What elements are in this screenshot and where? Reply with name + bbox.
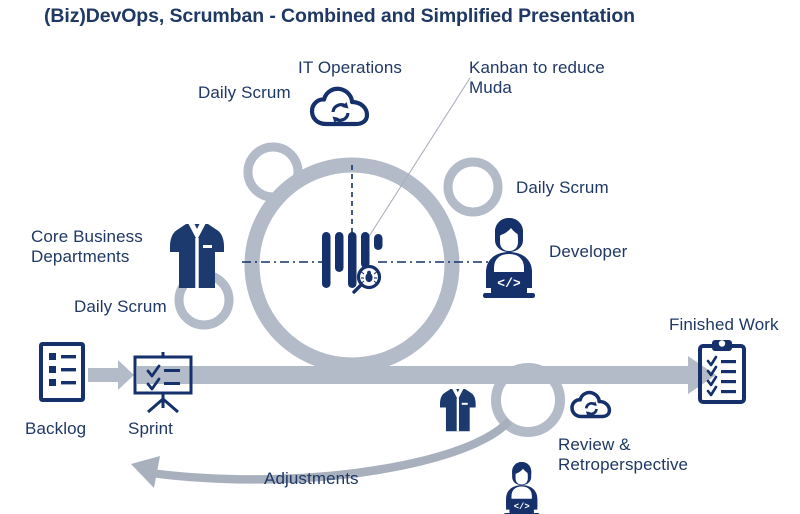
cloud-sync-icon-top bbox=[312, 89, 367, 124]
label-developer: Developer bbox=[549, 242, 627, 262]
label-daily-scrum-left: Daily Scrum bbox=[74, 297, 167, 317]
label-kanban-to-reduce-muda: Kanban to reduce Muda bbox=[469, 58, 605, 98]
label-backlog: Backlog bbox=[25, 419, 86, 439]
label-finished-work: Finished Work bbox=[669, 315, 779, 335]
label-core-business-departments: Core Business Departments bbox=[31, 227, 143, 267]
svg-text:</>: </> bbox=[514, 502, 530, 512]
label-adjustments: Adjustments bbox=[264, 469, 359, 489]
business-shirt-icon-bottom bbox=[440, 387, 476, 431]
kanban-leader-line bbox=[368, 78, 470, 238]
diagram-canvas: (Biz)DevOps, Scrumban - Combined and Sim… bbox=[0, 0, 800, 514]
label-it-operations: IT Operations bbox=[298, 58, 402, 78]
developer-laptop-icon-bottom: </> bbox=[504, 462, 539, 514]
satellite-right-ring bbox=[448, 162, 498, 212]
cloud-sync-icon-bottom bbox=[572, 393, 609, 417]
backlog-to-sprint-arrow bbox=[88, 360, 134, 390]
backlog-to-finished-work-arrow bbox=[137, 356, 716, 394]
label-daily-scrum-top: Daily Scrum bbox=[198, 83, 291, 103]
label-daily-scrum-right: Daily Scrum bbox=[516, 178, 609, 198]
kanban-bug-scan-icon bbox=[322, 232, 383, 292]
backlog-list-icon bbox=[41, 344, 83, 400]
label-review-retroperspective: Review & Retroperspective bbox=[558, 435, 688, 475]
svg-text:</>: </> bbox=[497, 276, 521, 291]
developer-laptop-icon-right: </> bbox=[483, 218, 535, 298]
label-sprint: Sprint bbox=[128, 419, 173, 439]
